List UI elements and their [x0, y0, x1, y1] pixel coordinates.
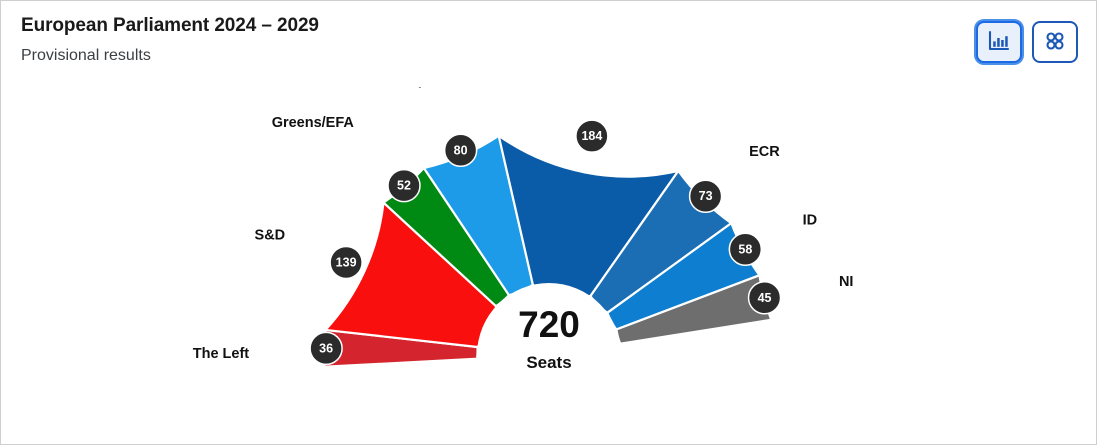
total-seats-value: 720	[518, 304, 580, 345]
seat-count-value: 45	[758, 291, 772, 305]
hemicycle-chart: The LeftS&DGreens/EFARenew EuropeEPPECRI…	[1, 87, 1097, 445]
seat-count-value: 73	[699, 189, 713, 203]
total-seats-caption: Seats	[526, 353, 571, 372]
bar-chart-icon	[987, 29, 1011, 56]
seat-count-badge: 36	[310, 332, 342, 364]
seat-count-value: 184	[581, 129, 602, 143]
seat-count-badge: 139	[330, 246, 362, 278]
chart-view-button[interactable]	[976, 21, 1022, 63]
page-subtitle: Provisional results	[21, 47, 1076, 65]
grid-view-button[interactable]	[1032, 21, 1078, 63]
party-label: NI	[839, 274, 854, 290]
hemicycle-svg: The LeftS&DGreens/EFARenew EuropeEPPECRI…	[1, 87, 1097, 445]
party-label: S&D	[255, 228, 286, 244]
party-label: Greens/EFA	[272, 115, 355, 131]
center-total: 720 Seats	[518, 304, 580, 372]
seat-count-badge: 52	[388, 170, 420, 202]
seat-count-badge: 80	[445, 134, 477, 166]
seat-count-value: 80	[454, 143, 468, 157]
grid-circles-icon	[1043, 29, 1067, 56]
seat-count-value: 139	[336, 255, 357, 269]
party-label: Renew Europe	[334, 87, 435, 89]
seat-count-badge: 58	[729, 233, 761, 265]
page-title: European Parliament 2024 – 2029	[21, 15, 1076, 37]
seat-count-badge: 184	[576, 120, 608, 152]
view-toggle-group	[976, 21, 1078, 63]
seat-count-badge: 73	[690, 180, 722, 212]
card-header: European Parliament 2024 – 2029 Provisio…	[1, 1, 1096, 65]
seat-count-value: 58	[738, 242, 752, 256]
party-label: ECR	[749, 144, 780, 160]
election-seat-chart-card: European Parliament 2024 – 2029 Provisio…	[0, 0, 1097, 445]
party-label: The Left	[193, 346, 250, 362]
seat-count-value: 36	[319, 341, 333, 355]
party-label: ID	[803, 212, 818, 228]
seat-count-value: 52	[397, 179, 411, 193]
seat-count-badge: 45	[749, 282, 781, 314]
